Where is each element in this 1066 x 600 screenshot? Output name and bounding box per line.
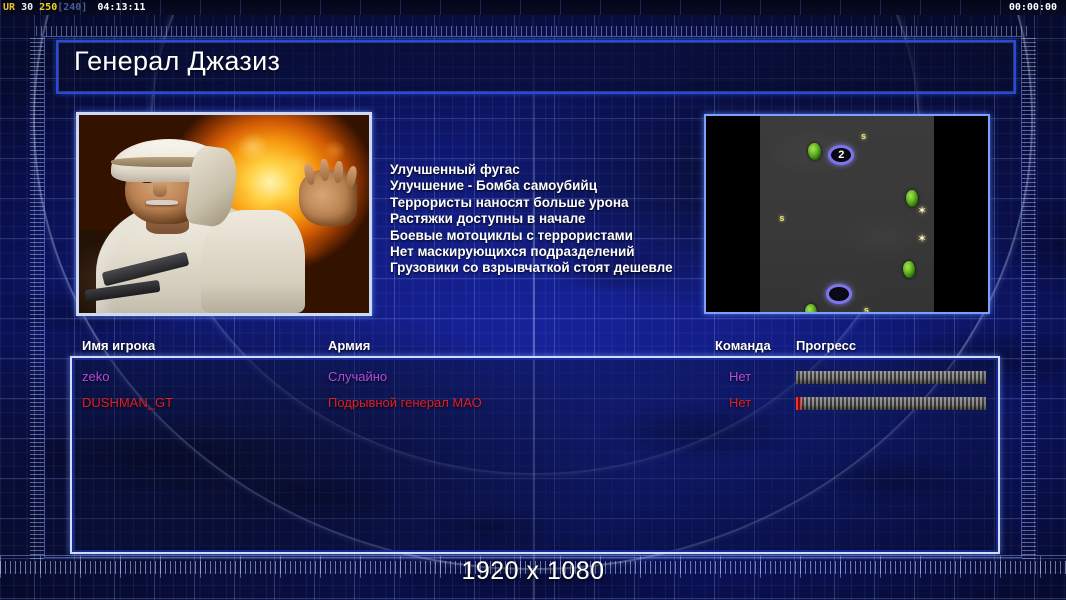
- description-line: Боевые мотоциклы с террористами: [390, 228, 700, 244]
- description-line: Растяжки доступны в начале: [390, 211, 700, 227]
- perf-label: UR: [3, 2, 15, 13]
- perf-fps: 30: [21, 2, 33, 13]
- description-line: Грузовики со взрывчаткой стоят дешевле: [390, 260, 700, 276]
- session-clock: 00:00:00: [1009, 1, 1057, 14]
- minimap-start-position[interactable]: [826, 284, 852, 304]
- portrait-artwork: [79, 115, 369, 313]
- description-line: Террористы наносят больше урона: [390, 195, 700, 211]
- minimap-resource-icon: s: [864, 306, 869, 314]
- player-team[interactable]: Нет: [729, 395, 751, 410]
- game-lobby-screen: UR 30 250[240] 04:13:11 00:00:00 Генерал…: [0, 0, 1066, 600]
- title-panel: Генерал Джазиз: [56, 40, 1012, 90]
- perf-elapsed: 04:13:11: [97, 2, 145, 13]
- player-table-header: Имя игрока Армия Команда Прогресс: [70, 338, 1000, 356]
- description-line: Улучшение - Бомба самоубийц: [390, 178, 700, 194]
- player-name: DUSHMAN_GT: [82, 395, 173, 410]
- minimap-resource-icon: s: [861, 132, 866, 141]
- column-header-progress: Прогресс: [796, 338, 856, 353]
- player-progress-fill: [796, 371, 986, 384]
- figure-mouth: [146, 200, 178, 205]
- player-team[interactable]: Нет: [729, 369, 751, 384]
- column-header-team: Команда: [715, 338, 771, 353]
- column-header-player-name: Имя игрока: [82, 338, 155, 353]
- description-line: Улучшенный фугас: [390, 162, 700, 178]
- player-list-panel: zekoСлучайноНетDUSHMAN_GTПодрывной генер…: [70, 356, 1000, 554]
- minimap-preview[interactable]: sss✶✶2: [704, 114, 990, 314]
- performance-readout: UR 30 250[240] 04:13:11: [3, 1, 146, 14]
- player-progress-fill: [796, 397, 986, 410]
- minimap-star-icon: ✶: [918, 234, 927, 245]
- perf-memory: 250: [39, 2, 57, 13]
- minimap-star-icon: ✶: [918, 206, 927, 217]
- resolution-overlay: 1920 x 1080: [0, 557, 1066, 586]
- player-rows: zekoСлучайноНетDUSHMAN_GTПодрывной генер…: [70, 366, 1000, 418]
- minimap-tree-icon: [805, 304, 817, 314]
- page-title: Генерал Джазиз: [74, 46, 280, 77]
- minimap-tree-icon: [906, 190, 918, 207]
- minimap-canvas: sss✶✶2: [706, 116, 988, 312]
- column-header-army: Армия: [328, 338, 370, 353]
- general-description-list: Улучшенный фугасУлучшение - Бомба самоуб…: [390, 162, 700, 277]
- player-progress-marker: [796, 397, 801, 410]
- perf-memory-alt: [240]: [57, 2, 87, 13]
- top-status-bar: UR 30 250[240] 04:13:11 00:00:00: [0, 0, 1066, 15]
- minimap-resource-icon: s: [779, 214, 784, 223]
- top-status-grid: [0, 0, 1066, 15]
- general-portrait: [76, 112, 372, 316]
- player-progress-bar: [796, 371, 986, 384]
- figure-nose: [153, 181, 168, 197]
- minimap-tree-icon: [903, 261, 915, 278]
- description-line: Нет маскирующихся подразделений: [390, 244, 700, 260]
- player-army[interactable]: Случайно: [328, 369, 387, 384]
- player-army[interactable]: Подрывной генерал МАО: [328, 395, 482, 410]
- player-name: zeko: [82, 369, 109, 384]
- table-row[interactable]: DUSHMAN_GTПодрывной генерал МАОНет: [70, 392, 1000, 418]
- player-progress-bar: [796, 397, 986, 410]
- table-row[interactable]: zekoСлучайноНет: [70, 366, 1000, 392]
